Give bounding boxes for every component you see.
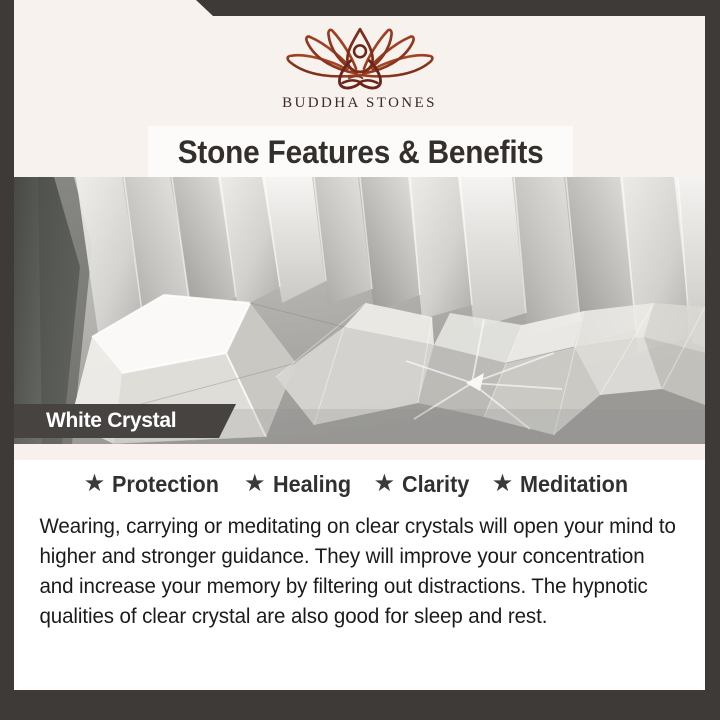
benefit-label: Healing — [273, 471, 351, 498]
description-paragraph: Wearing, carrying or meditating on clear… — [28, 511, 687, 631]
star-icon: ★ — [492, 472, 514, 496]
benefit-label: Clarity — [402, 471, 469, 498]
page-title: Stone Features & Benefits — [178, 134, 544, 171]
crystal-photo-illustration — [14, 177, 705, 444]
border-right-accent — [705, 14, 720, 720]
star-icon: ★ — [374, 472, 396, 496]
border-top-accent — [190, 0, 720, 16]
brand-wordmark: BUDDHA STONES — [282, 95, 437, 112]
content-panel: ★ Protection ★ Healing ★ Clarity ★ Medit… — [14, 460, 705, 690]
border-bottom-accent — [0, 690, 548, 720]
crystal-photo — [14, 177, 705, 444]
divider-strip — [14, 444, 705, 460]
star-icon: ★ — [84, 472, 106, 496]
product-info-card: BUDDHA STONES Stone Features & Benefits — [0, 0, 720, 720]
border-left-accent — [0, 0, 14, 692]
stone-name-label: White Crystal — [14, 409, 176, 433]
lotus-meditation-icon — [280, 26, 440, 94]
title-banner: Stone Features & Benefits — [148, 126, 573, 178]
benefit-item-protection: ★ Protection — [84, 471, 244, 498]
benefit-item-clarity: ★ Clarity — [374, 471, 492, 498]
benefit-label: Protection — [112, 471, 219, 498]
stone-name-tag: White Crystal — [14, 404, 236, 438]
benefit-label: Meditation — [520, 471, 628, 498]
star-icon: ★ — [244, 472, 266, 496]
benefit-item-meditation: ★ Meditation — [492, 471, 636, 498]
benefit-item-healing: ★ Healing — [244, 471, 374, 498]
benefits-list: ★ Protection ★ Healing ★ Clarity ★ Medit… — [28, 460, 691, 502]
brand-header: BUDDHA STONES — [14, 16, 705, 122]
